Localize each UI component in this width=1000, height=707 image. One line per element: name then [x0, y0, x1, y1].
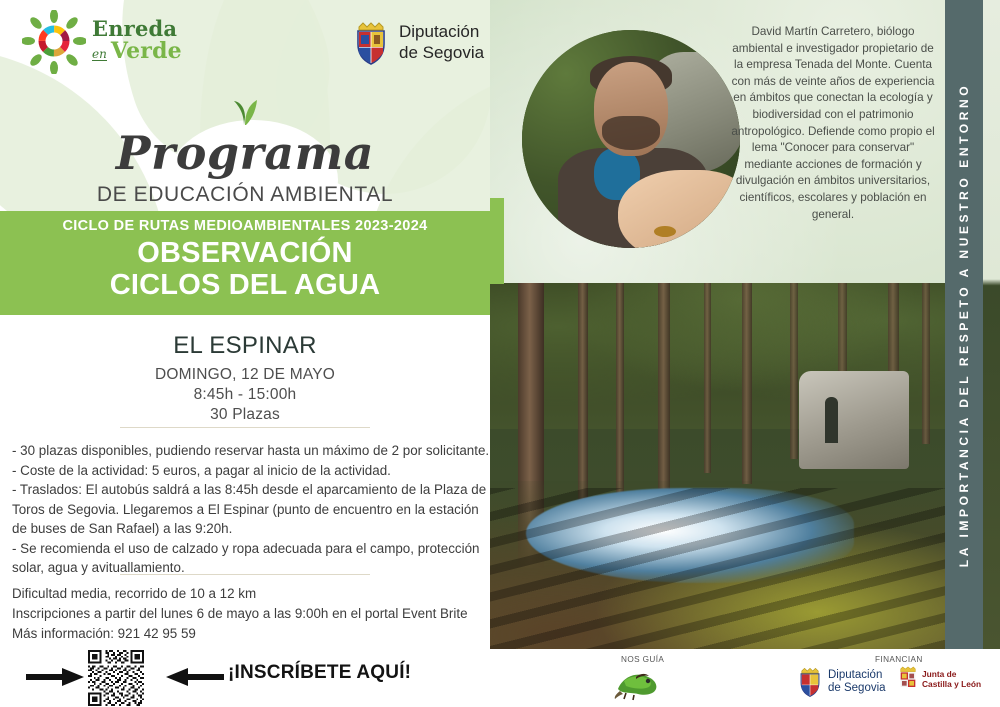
vertical-tagline-text: LA IMPORTANCIA DEL RESPETO A NUESTRO ENT… — [957, 82, 971, 566]
right-column: David Martín Carretero, biólogo ambienta… — [490, 0, 1000, 707]
note-contact: Más información: 921 42 95 59 — [12, 624, 490, 644]
footer: NOS GUÍA FINANCIAN Diputación de Segovia — [490, 649, 1000, 707]
segovia-coat-of-arms-icon — [797, 666, 823, 698]
poster: Enreda en Verde — [0, 0, 1000, 707]
event-date: DOMINGO, 12 DE MAYO — [0, 366, 490, 384]
left-column: Enreda en Verde — [0, 0, 490, 707]
diputacion-de-segovia-logo: Diputación de Segovia — [352, 20, 484, 66]
divider-bottom — [120, 574, 370, 575]
arrow-right-icon — [26, 668, 84, 686]
segovia-coat-of-arms-icon — [352, 20, 390, 66]
activity-banner: CICLO DE RUTAS MEDIOAMBIENTALES 2023-202… — [0, 211, 490, 315]
sdg-wheel-leaves-icon — [22, 10, 86, 74]
footer-diputacion-logo: Diputación de Segovia — [797, 666, 886, 698]
qr-code[interactable] — [88, 650, 144, 706]
footer-jcyl-logo: Junta de Castilla y León — [898, 666, 981, 692]
header-logos: Enreda en Verde — [0, 0, 490, 92]
event-time: 8:45h - 15:00h — [0, 386, 490, 404]
enreda-en-verde-logo: Enreda en Verde — [22, 10, 182, 74]
biography-panel: David Martín Carretero, biólogo ambienta… — [490, 0, 945, 283]
footer-diputacion-line2: de Segovia — [828, 682, 886, 695]
photo-right-edge — [983, 0, 1000, 649]
details-list: - 30 plazas disponibles, pudiendo reserv… — [12, 441, 490, 578]
list-item: - Coste de la actividad: 5 euros, a paga… — [12, 461, 490, 481]
footer-diputacion-line1: Diputación — [828, 669, 886, 682]
note-registration: Inscripciones a partir del lunes 6 de ma… — [12, 604, 490, 624]
banner-title-line1: OBSERVACIÓN — [0, 237, 490, 269]
footer-jcyl-line1: Junta de — [922, 669, 981, 679]
green-accent-block — [490, 198, 504, 284]
note-difficulty: Dificultad media, recorrido de 10 a 12 k… — [12, 584, 490, 604]
signup-call-to-action: ¡INSCRÍBETE AQUÍ! — [228, 662, 411, 684]
footer-jcyl-line2: Castilla y León — [922, 679, 981, 689]
divider-top — [120, 427, 370, 428]
banner-kicker: CICLO DE RUTAS MEDIOAMBIENTALES 2023-202… — [0, 218, 490, 234]
enreda-wordmark-line1: Enreda — [92, 18, 182, 39]
page-subtitle: DE EDUCACIÓN AMBIENTAL — [0, 183, 490, 207]
biography-text: David Martín Carretero, biólogo ambienta… — [728, 24, 938, 223]
notes-block: Dificultad media, recorrido de 10 a 12 k… — [12, 584, 490, 644]
enreda-wordmark-en: en — [92, 48, 107, 61]
castilla-y-leon-coat-of-arms-icon — [898, 666, 918, 692]
arrow-left-icon — [166, 668, 224, 686]
list-item: - 30 plazas disponibles, pudiendo reserv… — [12, 441, 490, 461]
guide-portrait-photo — [522, 30, 740, 248]
vertical-tagline-strip: LA IMPORTANCIA DEL RESPETO A NUESTRO ENT… — [945, 0, 983, 649]
list-item: - Traslados: El autobús saldrá a las 8:4… — [12, 480, 490, 539]
forest-stream-photo — [490, 283, 945, 649]
footer-funders-label: FINANCIAN — [875, 655, 923, 664]
event-capacity: 30 Plazas — [0, 406, 490, 424]
diputacion-name-line2: de Segovia — [399, 43, 484, 64]
diputacion-name-line1: Diputación — [399, 22, 484, 43]
event-place: EL ESPINAR — [0, 332, 490, 360]
event-summary: EL ESPINAR DOMINGO, 12 DE MAYO 8:45h - 1… — [0, 332, 490, 424]
gecko-logo-icon — [612, 667, 664, 701]
banner-title-line2: CICLOS DEL AGUA — [0, 269, 490, 301]
program-heading: Programa DE EDUCACIÓN AMBIENTAL — [0, 98, 490, 207]
list-item: - Se recomienda el uso de calzado y ropa… — [12, 539, 490, 578]
footer-guide-label: NOS GUÍA — [621, 655, 664, 664]
stone-ruin — [799, 371, 909, 469]
page-title: Programa — [0, 130, 490, 176]
enreda-wordmark-verde: Verde — [111, 40, 182, 62]
leaf-icon — [232, 98, 258, 126]
